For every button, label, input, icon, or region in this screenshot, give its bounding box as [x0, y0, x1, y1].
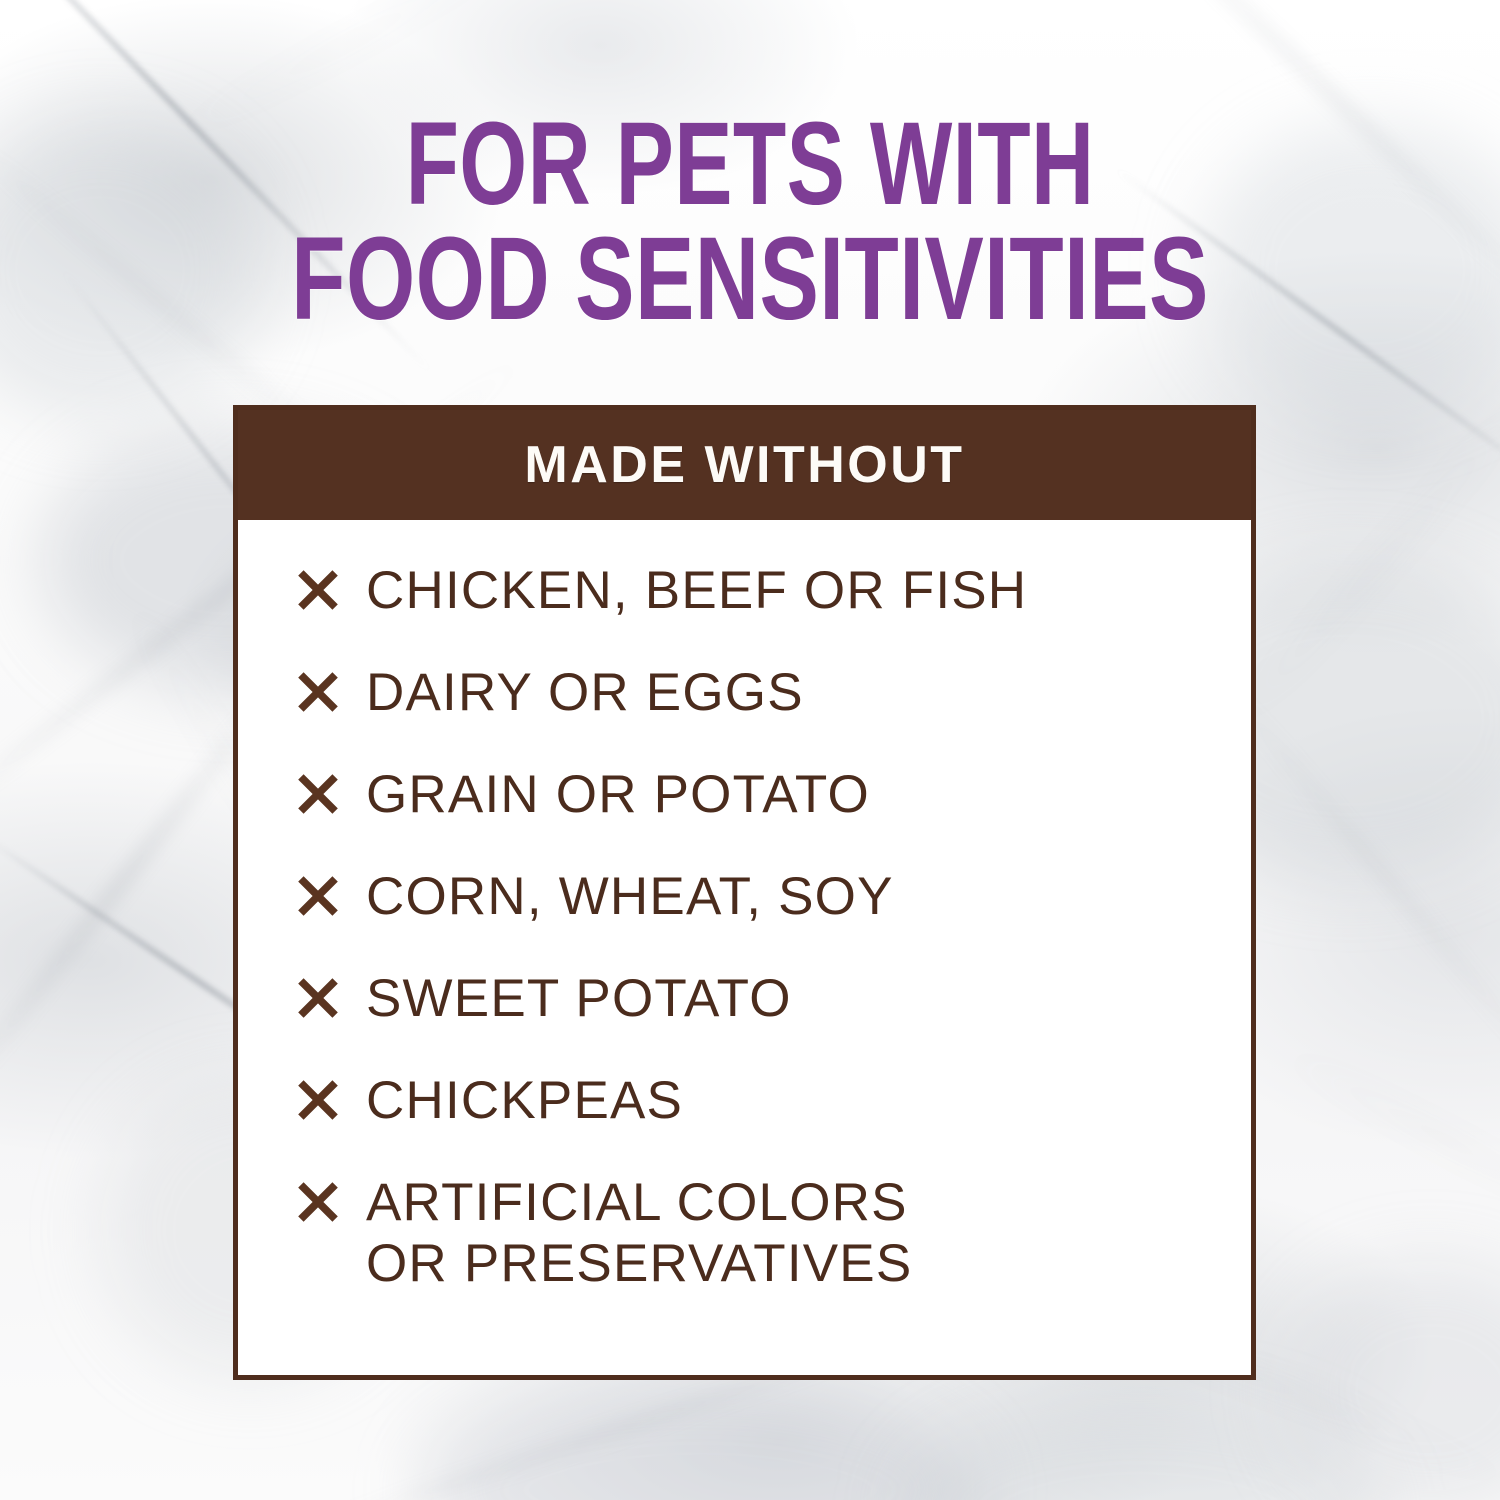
heavy-multiplication-x-icon — [296, 1078, 340, 1122]
heavy-multiplication-x-icon — [296, 874, 340, 918]
headline: FOR PETS WITH FOOD SENSITIVITIES — [0, 108, 1500, 337]
made-without-card: MADE WITHOUT CHICKEN, BEEF OR FISHDAIRY … — [233, 405, 1256, 1380]
heavy-multiplication-x-icon — [296, 1180, 340, 1224]
list-item-label: GRAIN OR POTATO — [366, 764, 870, 825]
list-item-label: CORN, WHEAT, SOY — [366, 866, 894, 927]
card-header: MADE WITHOUT — [238, 410, 1251, 520]
list-item: GRAIN OR POTATO — [296, 764, 1251, 866]
headline-line-1: FOR PETS WITH — [195, 108, 1305, 221]
list-item: CHICKPEAS — [296, 1070, 1251, 1172]
list-item-label: ARTIFICIAL COLORS OR PRESERVATIVES — [366, 1172, 912, 1295]
heavy-multiplication-x-icon — [296, 976, 340, 1020]
card-header-title: MADE WITHOUT — [524, 435, 964, 495]
list-item: CORN, WHEAT, SOY — [296, 866, 1251, 968]
card-body: CHICKEN, BEEF OR FISHDAIRY OR EGGSGRAIN … — [238, 520, 1251, 1352]
list-item-label: CHICKEN, BEEF OR FISH — [366, 560, 1027, 621]
headline-line-2: FOOD SENSITIVITIES — [184, 223, 1317, 336]
list-item: SWEET POTATO — [296, 968, 1251, 1070]
list-item-label: SWEET POTATO — [366, 968, 792, 1029]
list-item: DAIRY OR EGGS — [296, 662, 1251, 764]
list-item: CHICKEN, BEEF OR FISH — [296, 560, 1251, 662]
heavy-multiplication-x-icon — [296, 772, 340, 816]
heavy-multiplication-x-icon — [296, 568, 340, 612]
list-item: ARTIFICIAL COLORS OR PRESERVATIVES — [296, 1172, 1251, 1352]
heavy-multiplication-x-icon — [296, 670, 340, 714]
list-item-label: DAIRY OR EGGS — [366, 662, 804, 723]
list-item-label: CHICKPEAS — [366, 1070, 683, 1131]
exclusion-list: CHICKEN, BEEF OR FISHDAIRY OR EGGSGRAIN … — [296, 560, 1251, 1352]
poster-canvas: FOR PETS WITH FOOD SENSITIVITIES MADE WI… — [0, 0, 1500, 1500]
